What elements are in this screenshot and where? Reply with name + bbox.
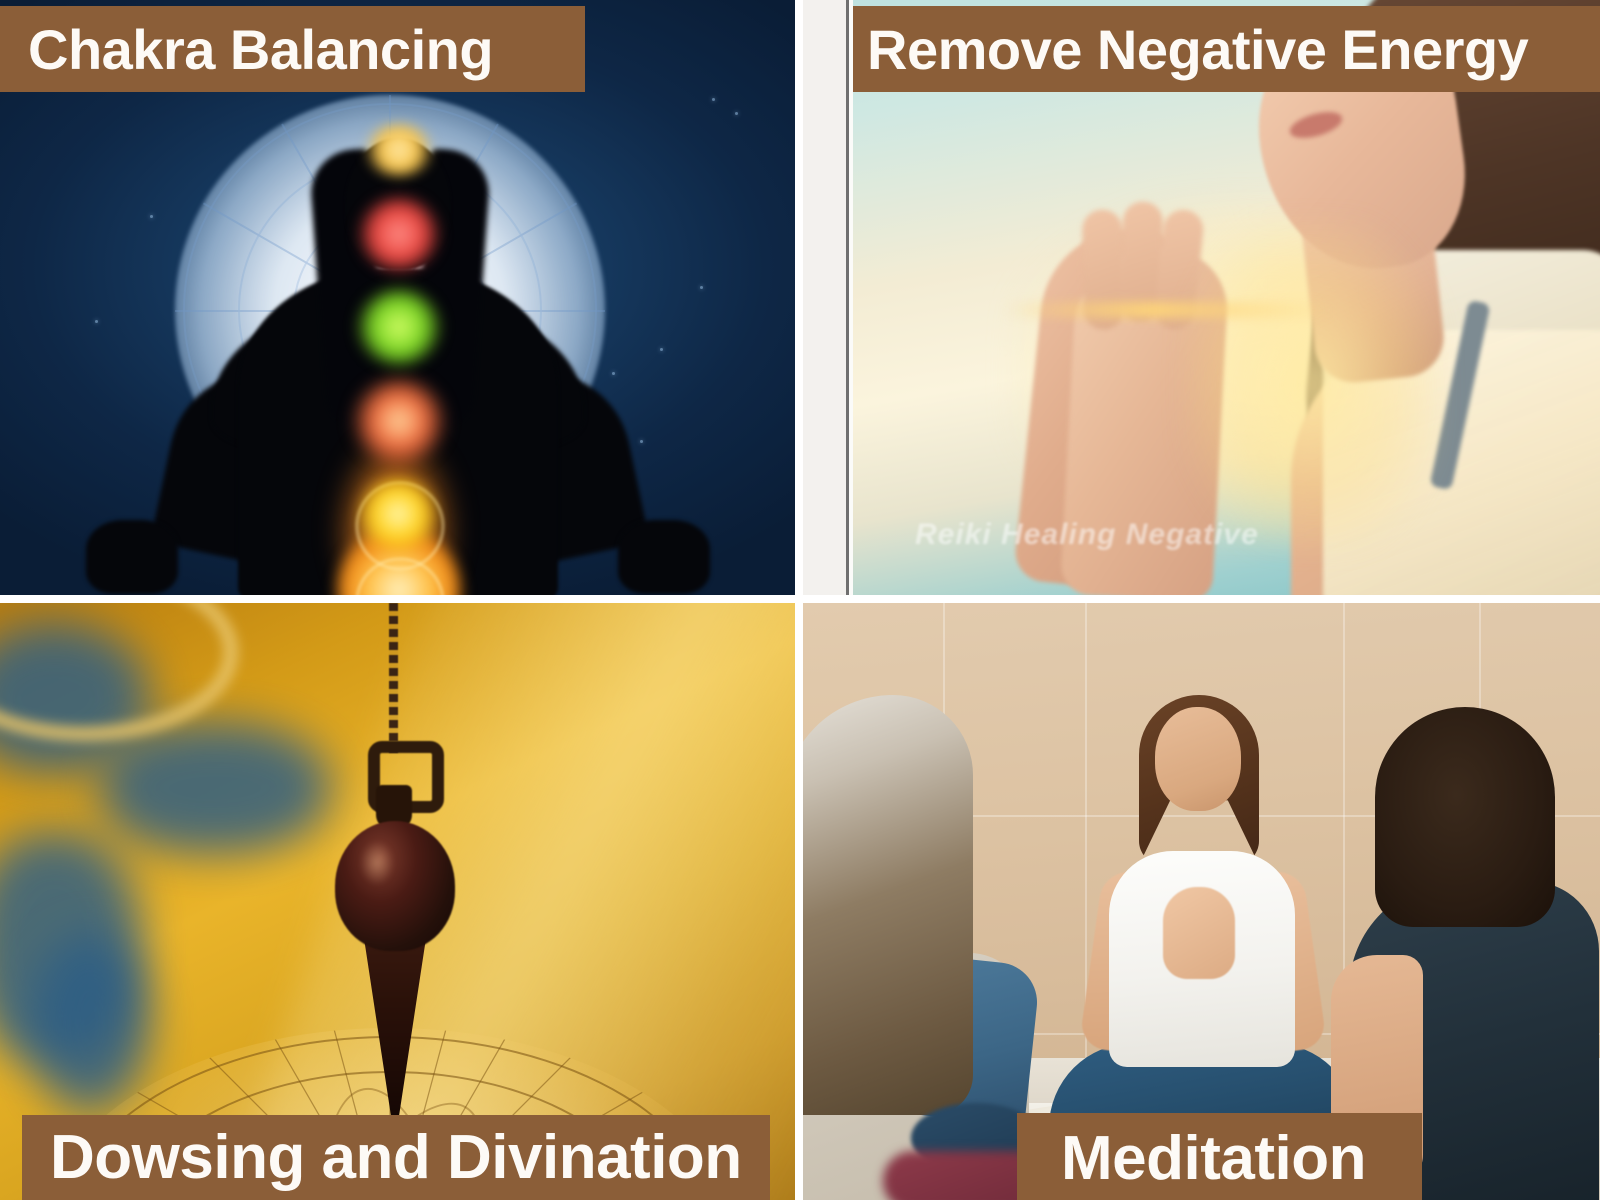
- reiki-watermark: Reiki Healing Negative: [915, 518, 1259, 552]
- label-chakra-balancing: Chakra Balancing: [0, 6, 585, 92]
- chakra-point-solar-plexus: [358, 478, 438, 550]
- label-dowsing-and-divination: Dowsing and Divination: [22, 1115, 770, 1200]
- panel-dowsing-and-divination[interactable]: Dowsing and Divination: [0, 603, 795, 1200]
- light-flare-glow: [1183, 220, 1443, 550]
- panel-remove-negative-energy[interactable]: Reiki Healing Negative Remove Negative E…: [803, 0, 1600, 595]
- label-remove-negative-energy: Remove Negative Energy: [853, 6, 1600, 92]
- chart-blue-mark-4: [30, 933, 150, 1113]
- chakra-point-throat: [356, 288, 442, 366]
- dowsing-scene-image: [0, 603, 795, 1200]
- chart-blue-mark-2: [100, 723, 330, 853]
- chakra-point-third-eye: [358, 196, 440, 272]
- light-flare-streak: [1003, 302, 1333, 318]
- pendulum-chain: [389, 603, 398, 753]
- pendulum-bulb: [335, 821, 455, 951]
- panel-chakra-balancing[interactable]: Chakra Balancing: [0, 0, 795, 595]
- meditation-scene-image: [803, 603, 1600, 1200]
- pendulum-highlight: [360, 841, 394, 885]
- panel-meditation[interactable]: Meditation: [803, 603, 1600, 1200]
- chakra-point-crown: [363, 124, 435, 176]
- label-meditation: Meditation: [1017, 1113, 1422, 1200]
- services-collage: Chakra Balancing: [0, 0, 1600, 1200]
- chakra-point-heart: [352, 378, 446, 464]
